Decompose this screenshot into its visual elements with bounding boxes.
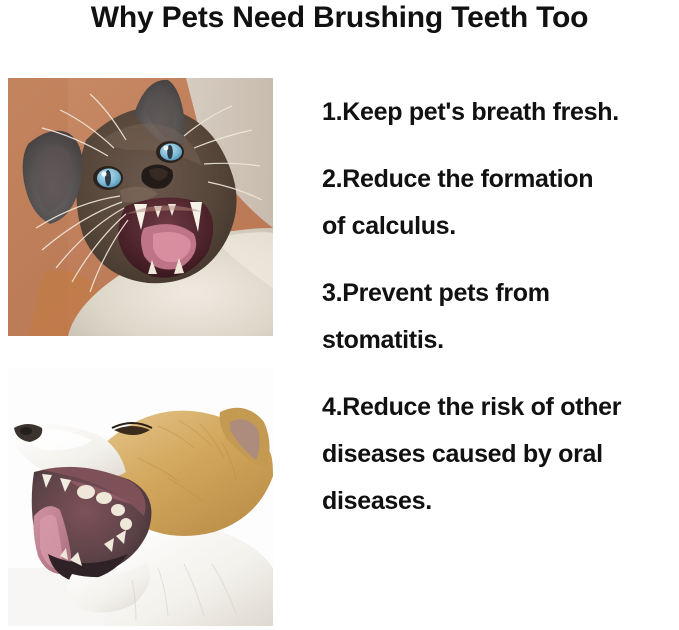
cat-illustration — [8, 78, 273, 336]
cat-eye-left — [93, 166, 123, 190]
benefit-3-number: 3. — [322, 279, 342, 307]
benefit-4-number: 4. — [322, 393, 342, 421]
dog-illustration — [8, 368, 273, 626]
dog-photo — [8, 368, 273, 626]
benefit-3-text: Prevent pets from — [342, 279, 549, 307]
benefit-2-text-line2: of calculus. — [322, 203, 679, 250]
benefits-list: 1.Keep pet's breath fresh. 2.Reduce the … — [322, 89, 679, 525]
benefit-4-text-line3: diseases. — [322, 478, 679, 525]
benefit-1-text: Keep pet's breath fresh. — [342, 98, 619, 126]
benefit-3-text-line2: stomatitis. — [322, 317, 679, 364]
benefit-item-1: 1.Keep pet's breath fresh. — [322, 89, 679, 136]
benefit-2-number: 2. — [322, 165, 342, 193]
benefit-item-4: 4.Reduce the risk of other diseases caus… — [322, 384, 679, 525]
cat-eye-right — [156, 141, 184, 163]
benefit-item-3: 3.Prevent pets from stomatitis. — [322, 270, 679, 364]
benefit-1-number: 1. — [322, 98, 342, 126]
benefit-4-text: Reduce the risk of other — [342, 393, 621, 421]
benefit-4-text-line2: diseases caused by oral — [322, 431, 679, 478]
benefit-item-2: 2.Reduce the formation of calculus. — [322, 156, 679, 250]
benefit-2-text: Reduce the formation — [342, 165, 593, 193]
page-title: Why Pets Need Brushing Teeth Too — [0, 1, 679, 35]
cat-photo — [8, 78, 273, 336]
